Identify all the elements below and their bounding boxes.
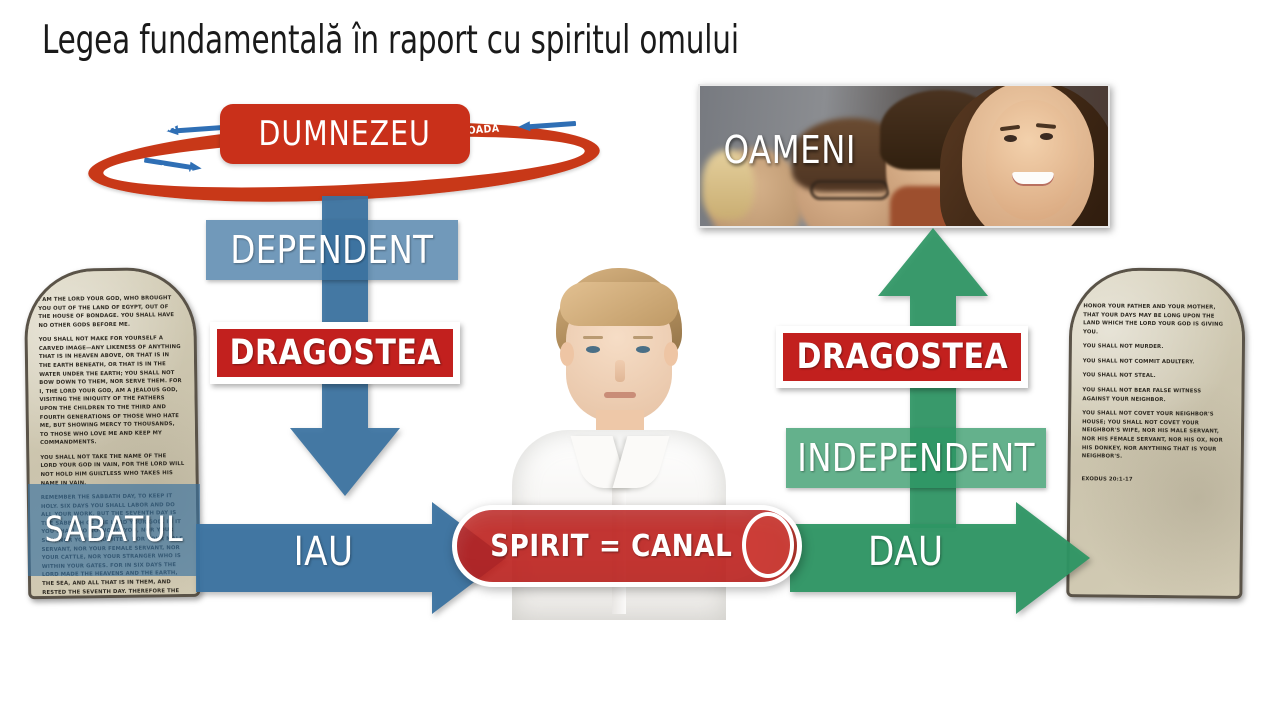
person-brow-right bbox=[633, 336, 653, 339]
person-eye-right bbox=[636, 346, 650, 353]
tablet-right-text: HONOR YOUR FATHER AND YOUR MOTHER, THAT … bbox=[1081, 302, 1231, 491]
dragostea-label-right: DRAGOSTEA bbox=[796, 337, 1008, 377]
commandment-7: YOU SHALL NOT COMMIT ADULTERY. bbox=[1083, 357, 1231, 367]
person-ear-left bbox=[560, 342, 574, 366]
dependent-label: DEPENDENT bbox=[230, 228, 433, 272]
capsule-label: SPIRIT = CANAL bbox=[457, 505, 797, 587]
god-label: DUMNEZEU bbox=[259, 114, 431, 154]
commandment-2: YOU SHALL NOT MAKE FOR YOURSELF A CARVED… bbox=[39, 334, 185, 448]
dragostea-box-right: DRAGOSTEA bbox=[776, 326, 1028, 388]
god-box: DUMNEZEU bbox=[220, 104, 470, 164]
slide-canvas: Legea fundamentală în raport cu spiritul… bbox=[0, 0, 1280, 720]
commandment-1: I AM THE LORD YOUR GOD, WHO BROUGHT YOU … bbox=[38, 294, 182, 330]
independent-label: INDEPENDENT bbox=[797, 436, 1035, 480]
sabatul-overlay-box: SABATUL bbox=[28, 484, 200, 576]
people-photo: OAMENI bbox=[698, 84, 1110, 228]
person-mouth bbox=[604, 392, 636, 398]
commandment-6: YOU SHALL NOT MURDER. bbox=[1083, 343, 1231, 353]
commandment-5: HONOR YOUR FATHER AND YOUR MOTHER, THAT … bbox=[1083, 302, 1231, 338]
commandment-9: YOU SHALL NOT BEAR FALSE WITNESS AGAINST… bbox=[1082, 386, 1230, 405]
person-ear-right bbox=[664, 342, 678, 366]
commandment-3: YOU SHALL NOT TAKE THE NAME OF THE LORD … bbox=[40, 452, 184, 488]
commandment-10: YOU SHALL NOT COVET YOUR NEIGHBOR'S HOUS… bbox=[1082, 409, 1231, 462]
person-woman-face bbox=[986, 100, 1078, 220]
person-woman-eye-left bbox=[1004, 135, 1017, 142]
spirit-channel-capsule: SPIRIT = CANAL bbox=[452, 505, 802, 587]
stone-tablet-right: HONOR YOUR FATHER AND YOUR MOTHER, THAT … bbox=[1066, 267, 1245, 599]
iau-label: IAU bbox=[294, 529, 354, 575]
page-title: Legea fundamentală în raport cu spiritul… bbox=[42, 18, 739, 63]
commandment-8: YOU SHALL NOT STEAL. bbox=[1083, 372, 1231, 382]
god-cycle-group: DRAGOSTEA ROADĂ CUVÂNTUL LUI DUMNEZEU DU… bbox=[88, 96, 608, 206]
glasses-icon bbox=[810, 180, 890, 200]
independent-box: INDEPENDENT bbox=[786, 428, 1046, 488]
people-label: OAMENI bbox=[723, 128, 855, 172]
dependent-box: DEPENDENT bbox=[206, 220, 458, 280]
dragostea-label-left: DRAGOSTEA bbox=[229, 333, 441, 373]
person-eye-left bbox=[586, 346, 600, 353]
person-woman-eye-right bbox=[1040, 133, 1053, 140]
dragostea-box-left: DRAGOSTEA bbox=[210, 322, 460, 384]
dau-label: DAU bbox=[868, 529, 943, 575]
scripture-reference: EXODUS 20:1-17 bbox=[1081, 475, 1229, 485]
person-woman-smile bbox=[1012, 172, 1054, 186]
sabatul-label: SABATUL bbox=[45, 510, 184, 550]
person-nose bbox=[615, 360, 625, 382]
person-brow-left bbox=[583, 336, 603, 339]
person-fringe bbox=[560, 282, 678, 326]
roada-arrow-icon bbox=[518, 118, 577, 132]
